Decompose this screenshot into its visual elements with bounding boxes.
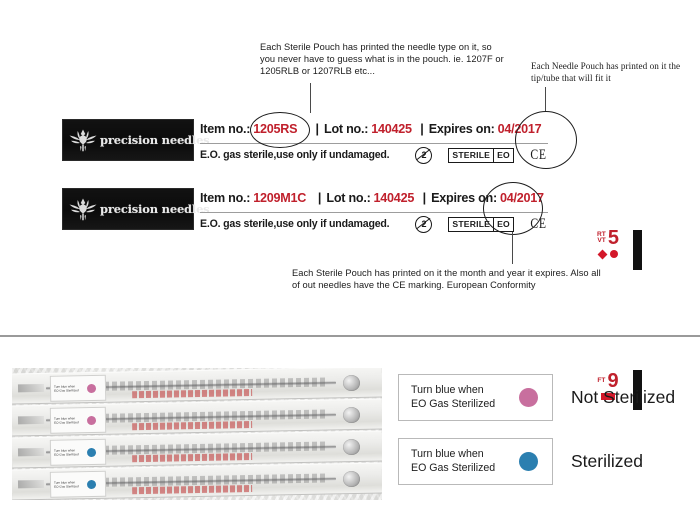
item-no-value-1: 1205RS: [253, 122, 297, 136]
warning-text-1: E.O. gas sterile,use only if undamaged.: [200, 149, 389, 161]
legend-row-not-sterilized: Turn blue when EO Gas Sterilized Not Ste…: [398, 374, 675, 421]
leader-line-tip-tube: [545, 87, 546, 112]
sterile-method-2: EO: [493, 218, 513, 231]
legend-row-sterilized: Turn blue when EO Gas Sterilized Sterili…: [398, 438, 643, 485]
pouch-print-red: [132, 453, 252, 462]
expires-value-2: 04/2017: [500, 191, 544, 205]
leader-line-expiry: [512, 232, 513, 264]
lot-no-label-2: Lot no.:: [326, 191, 370, 205]
needle-tip: [343, 407, 360, 423]
indicator-dot: [87, 415, 96, 424]
warning-text-2: E.O. gas sterile,use only if undamaged.: [200, 218, 389, 230]
needle-tip: [343, 471, 360, 487]
pouch-grip: [18, 384, 44, 392]
legend-line1-1: Turn blue when: [411, 384, 484, 396]
legend-line1-2: Turn blue when: [411, 448, 484, 460]
tip-tube-code-1: RT VT 5: [586, 229, 630, 258]
tip-prefix-1: RT VT: [597, 232, 606, 245]
legend-caption-not-sterilized: Not Sterilized: [571, 387, 675, 408]
indicator-dot: [87, 383, 96, 392]
product-label-row-2: precision needles Item no.:1209M1C | Lot…: [62, 182, 582, 236]
label-line-bottom-1: E.O. gas sterile,use only if undamaged. …: [200, 146, 560, 164]
needle-tip: [343, 375, 360, 391]
ce-mark-icon-2: CE: [530, 217, 547, 232]
sterilization-indicator: Turn blue when EO Gas Sterilized: [50, 471, 106, 498]
lot-no-value-2: 140425: [374, 191, 415, 205]
sterile-word-1: STERILE: [449, 149, 493, 162]
label-line-top-1: Item no.:1205RS | Lot no.:140425 | Expir…: [200, 122, 548, 141]
tip-prefix-bottom-1: VT: [597, 237, 605, 244]
brand-logo-2: precision needles: [62, 188, 194, 230]
circle-shape-icon: [610, 250, 618, 258]
winged-skull-logo-icon: [68, 125, 98, 155]
no-reuse-icon-1: 2: [415, 147, 432, 164]
indicator-dot: [87, 479, 96, 488]
expires-label-2: Expires on:: [431, 191, 497, 205]
indicator-line2: EO Gas Sterilized: [54, 452, 79, 456]
product-label-row-1: precision needles Item no.:1205RS | Lot …: [62, 113, 582, 167]
annotation-tip-tube: Each Needle Pouch has printed on it the …: [531, 61, 696, 85]
needle-tip: [343, 439, 360, 455]
winged-skull-logo-icon: [68, 194, 98, 224]
tip-number-1: 5: [608, 229, 619, 247]
infographic-root: Each Sterile Pouch has printed the needl…: [0, 0, 700, 511]
sterilization-indicator: Turn blue when EO Gas Sterilized: [50, 407, 106, 434]
indicator-line2: EO Gas Sterilized: [54, 388, 79, 392]
indicator-text: Turn blue when EO Gas Sterilized: [54, 416, 85, 425]
sterile-method-1: EO: [493, 149, 513, 162]
item-no-label-1: Item no.:: [200, 122, 250, 136]
indicator-line2: EO Gas Sterilized: [54, 484, 79, 488]
expires-label-1: Expires on:: [429, 122, 495, 136]
sterile-word-2: STERILE: [449, 218, 493, 231]
pouch-grip: [18, 448, 44, 456]
indicator-text: Turn blue when EO Gas Sterilized: [54, 384, 85, 393]
lot-no-value-1: 140425: [371, 122, 412, 136]
legend-dot-blue: [519, 452, 538, 471]
pouch-grip: [18, 416, 44, 424]
label-rule-1: [200, 143, 548, 144]
sterile-eo-icon-2: STERILE EO: [448, 217, 514, 232]
legend-box-sterilized: Turn blue when EO Gas Sterilized: [398, 438, 553, 485]
pouch-grip: [18, 480, 44, 488]
pouch-4: Turn blue when EO Gas Sterilized: [12, 462, 382, 500]
leader-line-needle-type: [310, 83, 311, 113]
indicator-dot: [87, 447, 96, 456]
annotation-expiry-ce: Each Sterile Pouch has printed on it the…: [292, 267, 602, 291]
separator-2a: |: [309, 191, 326, 205]
legend-box-text-2: Turn blue when EO Gas Sterilized: [411, 448, 495, 475]
label-end-bar-1: [633, 230, 642, 270]
indicator-line2: EO Gas Sterilized: [54, 420, 79, 424]
sterilization-indicator: Turn blue when EO Gas Sterilized: [50, 375, 106, 402]
label-body-1: Item no.:1205RS | Lot no.:140425 | Expir…: [200, 113, 582, 167]
legend-line2-1: EO Gas Sterilized: [411, 398, 495, 410]
legend-dot-pink: [519, 388, 538, 407]
tip-code-line-1: RT VT 5: [586, 229, 630, 247]
separator-2b: |: [417, 191, 431, 205]
legend-box-text-1: Turn blue when EO Gas Sterilized: [411, 384, 495, 411]
annotation-needle-type: Each Sterile Pouch has printed the needl…: [260, 41, 505, 77]
pouch-print-red: [132, 389, 252, 398]
indicator-text: Turn blue when EO Gas Sterilized: [54, 448, 85, 457]
separator-1b: |: [415, 122, 429, 136]
item-no-label-2: Item no.:: [200, 191, 250, 205]
diamond-shape-icon: [597, 249, 607, 259]
label-rule-2: [200, 212, 548, 213]
sterilization-indicator: Turn blue when EO Gas Sterilized: [50, 439, 106, 466]
indicator-text: Turn blue when EO Gas Sterilized: [54, 480, 85, 489]
expires-value-1: 04/2017: [498, 122, 542, 136]
tip-shapes-1: [586, 250, 630, 258]
needle-pouches-photo: Turn blue when EO Gas Sterilized Turn bl…: [12, 368, 382, 500]
legend-line2-2: EO Gas Sterilized: [411, 462, 495, 474]
section-divider: [0, 335, 700, 337]
brand-logo-text-1: precision needles: [100, 133, 209, 147]
sterile-eo-icon-1: STERILE EO: [448, 148, 514, 163]
label-line-top-2: Item no.:1209M1C | Lot no.:140425 | Expi…: [200, 191, 548, 210]
legend-caption-sterilized: Sterilized: [571, 451, 643, 472]
lot-no-label-1: Lot no.:: [324, 122, 368, 136]
brand-logo-1: precision needles: [62, 119, 194, 161]
label-body-2: Item no.:1209M1C | Lot no.:140425 | Expi…: [200, 182, 582, 236]
pouch-print-red: [132, 421, 252, 430]
legend-box-not-sterilized: Turn blue when EO Gas Sterilized: [398, 374, 553, 421]
brand-logo-text-2: precision needles: [100, 202, 209, 216]
item-no-value-2: 1209M1C: [253, 191, 306, 205]
no-reuse-icon-2: 2: [415, 216, 432, 233]
ce-mark-icon-1: CE: [530, 148, 547, 163]
pouch-print-red: [132, 485, 252, 494]
separator-1a: |: [301, 122, 325, 136]
label-line-bottom-2: E.O. gas sterile,use only if undamaged. …: [200, 215, 560, 233]
